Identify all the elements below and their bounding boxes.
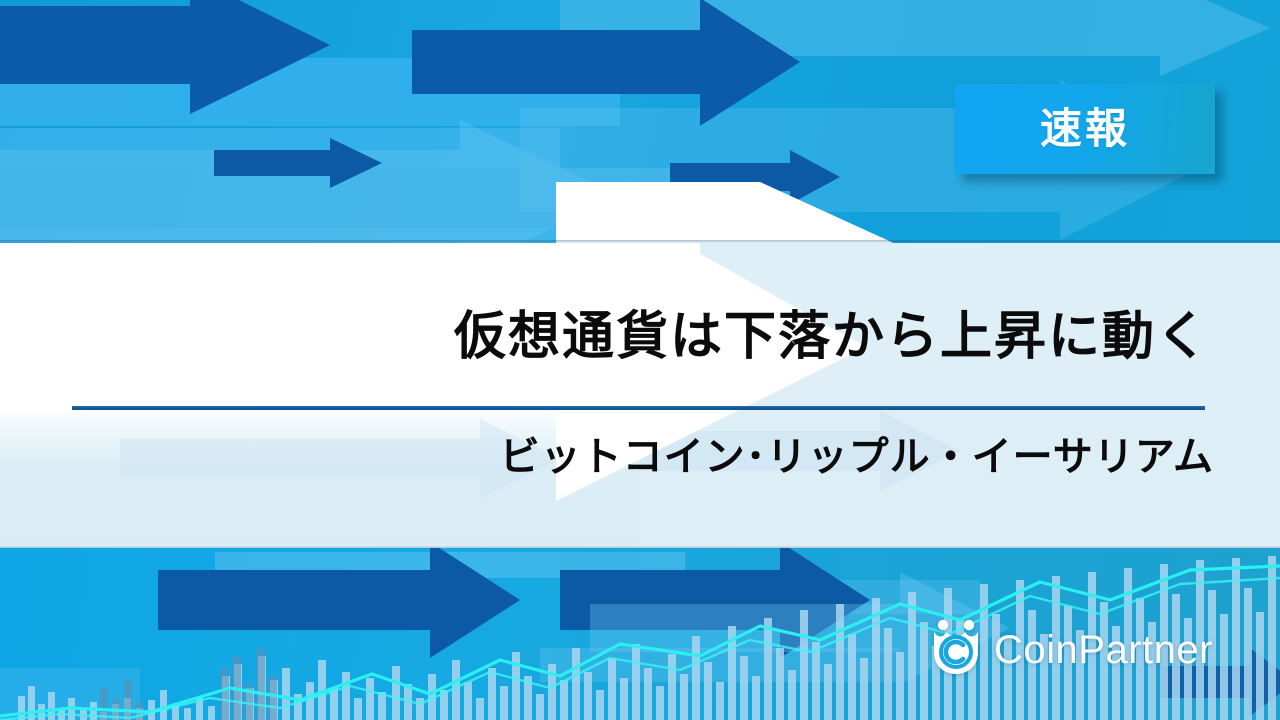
page-subtitle: ビットコイン･リップル・イーサリアム xyxy=(0,432,1214,482)
center-white-wedge xyxy=(0,243,1280,549)
thumbnail-canvas: 仮想通貨は下落から上昇に動く ビットコイン･リップル・イーサリアム xyxy=(0,0,1280,720)
title-divider-rule xyxy=(72,406,1205,410)
breaking-news-badge-label: 速報 xyxy=(1040,108,1130,150)
coinpartner-wordmark: CoinPartner xyxy=(994,630,1213,670)
page-title: 仮想通貨は下落から上昇に動く xyxy=(0,310,1210,365)
breaking-news-badge[interactable]: 速報 xyxy=(955,84,1215,174)
center-content-band xyxy=(0,243,1280,549)
coinpartner-logo[interactable]: CoinPartner xyxy=(930,618,1213,681)
coinpartner-shield-icon xyxy=(930,618,982,681)
